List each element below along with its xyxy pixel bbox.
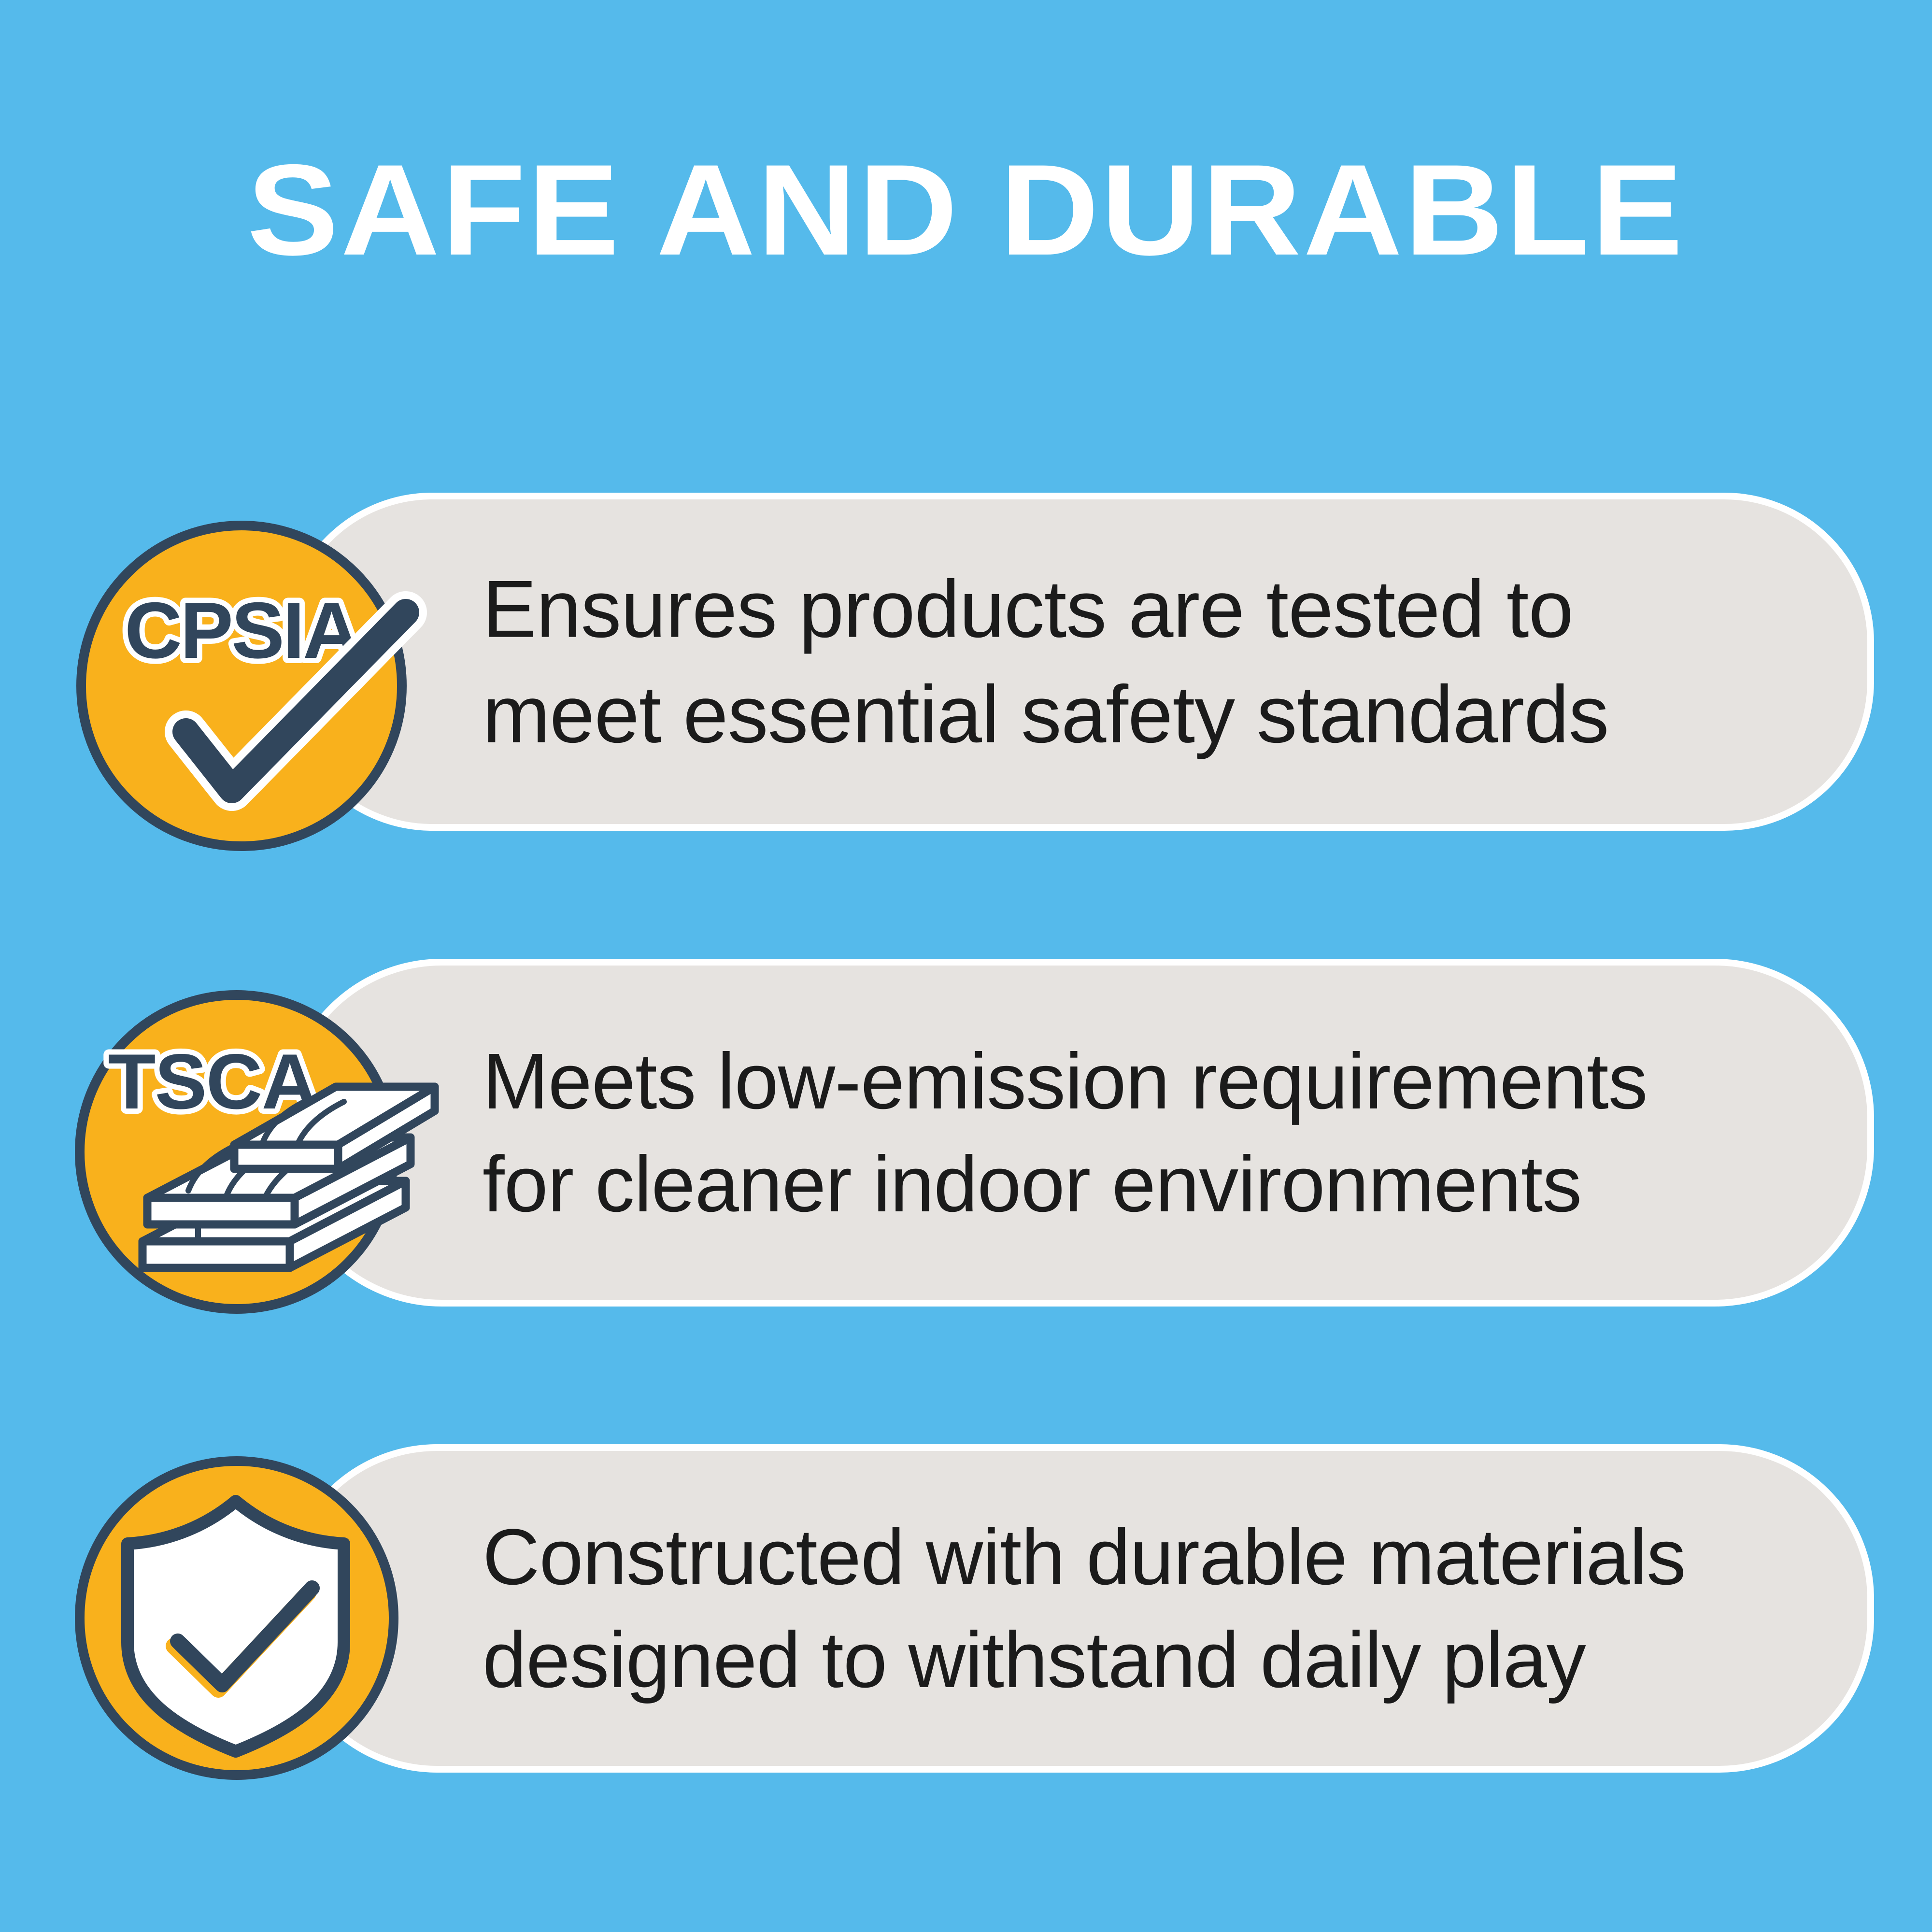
feature-row-cpsia: Ensures products are tested to meet esse… [0,493,1932,831]
feature-card: Constructed with durable materials desig… [283,1444,1874,1773]
feature-row-tsca: Meets low-emission requirements for clea… [0,959,1932,1307]
infographic-page: SAFE AND DURABLE Ensures products are te… [0,0,1932,1932]
feature-text-line-1: Constructed with durable materials [483,1506,1809,1608]
feature-card: Meets low-emission requirements for clea… [283,959,1874,1307]
feature-row-shield: Constructed with durable materials desig… [0,1444,1932,1773]
feature-text: Meets low-emission requirements for clea… [483,1030,1809,1236]
feature-text-line-1: Ensures products are tested to [483,556,1809,662]
feature-text-line-1: Meets low-emission requirements [483,1030,1809,1133]
feature-text: Ensures products are tested to meet esse… [483,556,1809,767]
feature-text-line-2: designed to withstand daily play [483,1608,1809,1711]
feature-card: Ensures products are tested to meet esse… [283,493,1874,831]
feature-text-line-2: meet essential safety standards [483,662,1809,767]
feature-text: Constructed with durable materials desig… [483,1506,1809,1711]
page-title: SAFE AND DURABLE [0,145,1932,274]
feature-text-line-2: for cleaner indoor environments [483,1133,1809,1236]
